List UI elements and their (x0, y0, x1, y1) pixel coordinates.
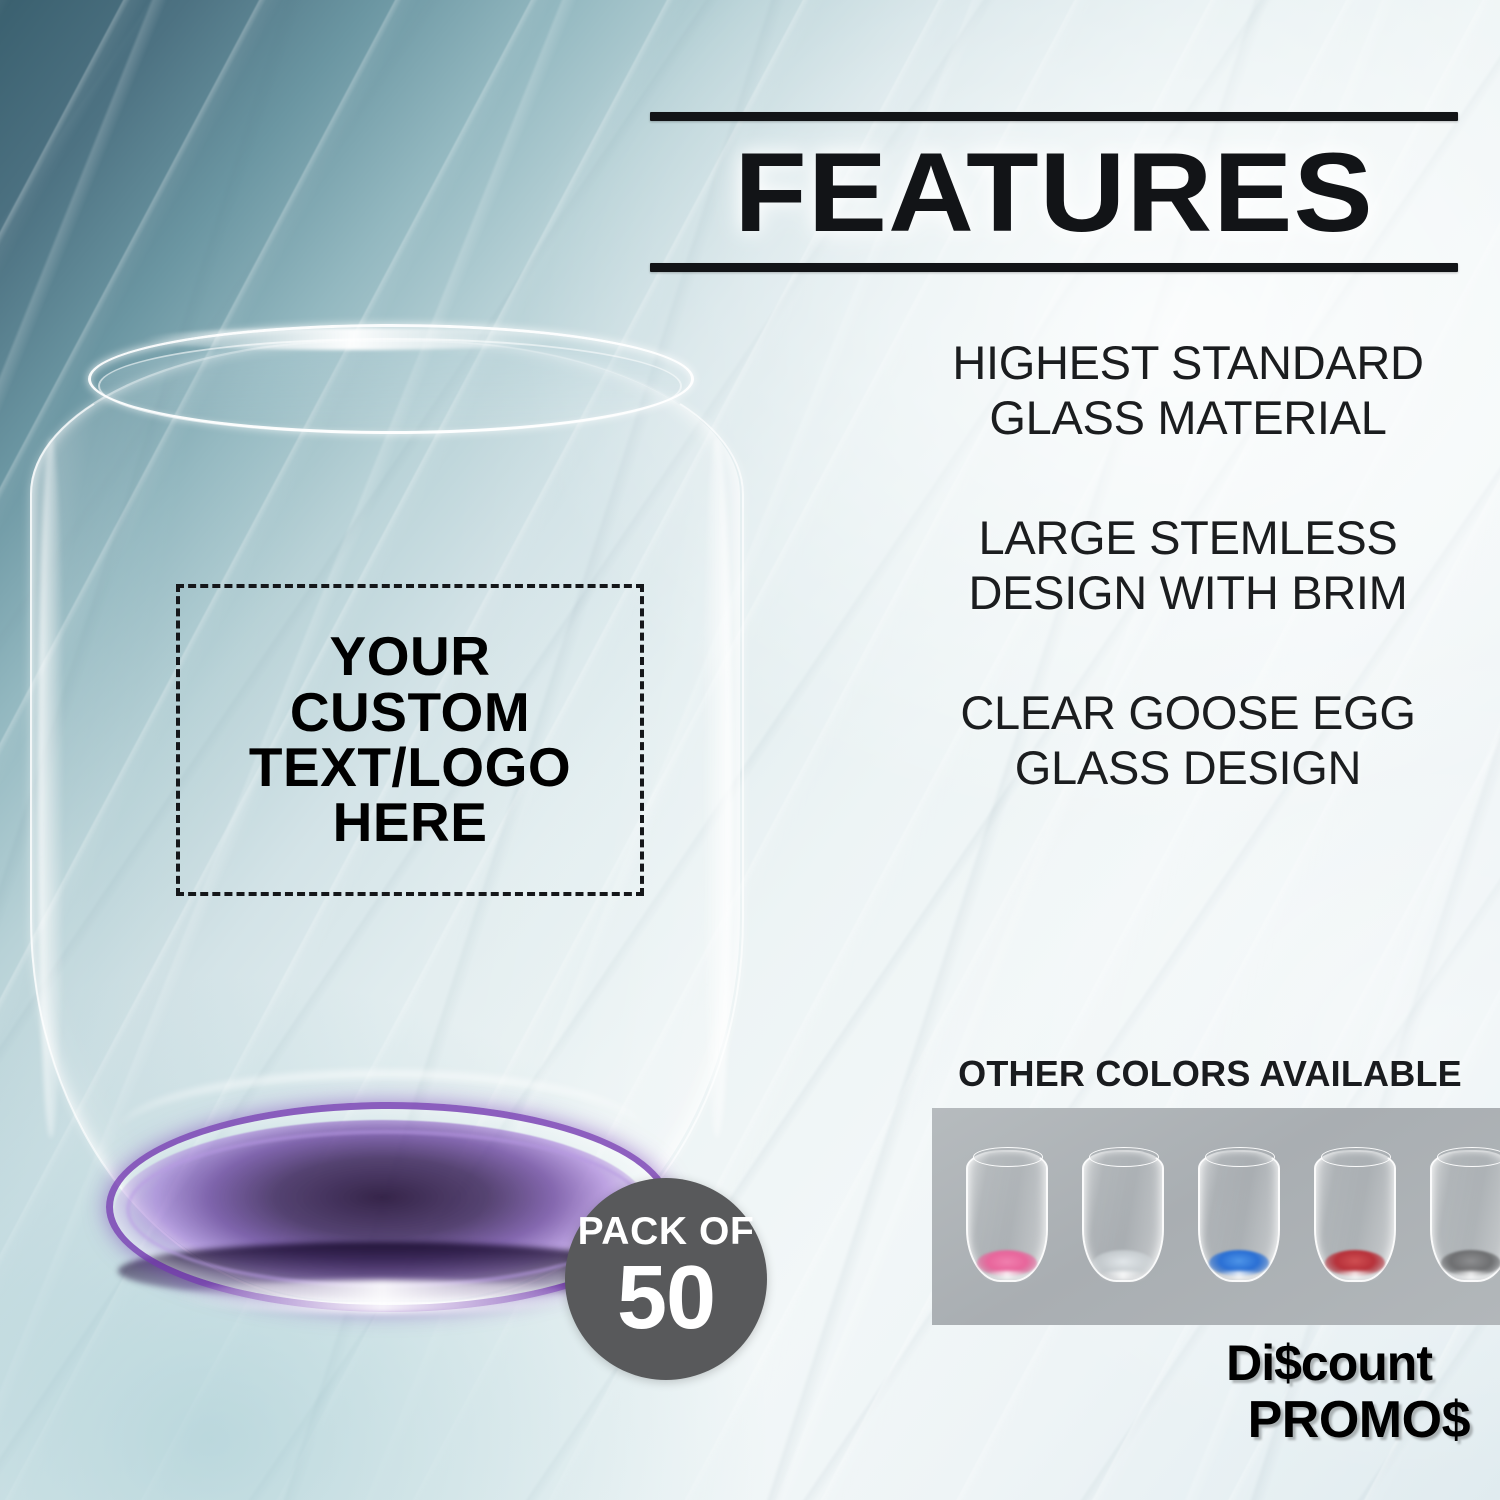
custom-imprint-area: YOUR CUSTOM TEXT/LOGO HERE (176, 584, 644, 896)
pack-badge-label: PACK OF (578, 1212, 755, 1251)
pack-quantity-badge: PACK OF 50 (565, 1178, 767, 1380)
pack-badge-quantity: 50 (617, 1253, 715, 1343)
imprint-line-4: HERE (333, 796, 488, 849)
feature-2-line-1: LARGE STEMLESS (888, 511, 1488, 566)
color-swatch-strip (932, 1108, 1500, 1325)
swatch-rim (1089, 1147, 1159, 1167)
imprint-line-1: YOUR (330, 630, 491, 683)
color-swatch-smoke[interactable] (1430, 1150, 1500, 1282)
feature-3-line-2: GLASS DESIGN (888, 741, 1488, 796)
color-swatch-pink[interactable] (966, 1150, 1048, 1282)
swatch-rim (1321, 1147, 1391, 1167)
swatch-base-shine (1098, 1271, 1148, 1280)
swatch-rim (1205, 1147, 1275, 1167)
color-swatch-blue[interactable] (1198, 1150, 1280, 1282)
feature-item-1: HIGHEST STANDARD GLASS MATERIAL (888, 336, 1488, 445)
product-feature-graphic: YOUR CUSTOM TEXT/LOGO HERE PACK OF 50 FE… (0, 0, 1500, 1500)
swatch-base-shine (1446, 1271, 1496, 1280)
brand-logo: Di$count PROMO$ (1150, 1338, 1470, 1446)
imprint-line-2: CUSTOM (290, 686, 530, 739)
feature-list: HIGHEST STANDARD GLASS MATERIAL LARGE ST… (888, 336, 1488, 795)
swatch-base-shine (1214, 1271, 1264, 1280)
header-rule-bottom (650, 263, 1458, 272)
header-rule-top (650, 112, 1458, 121)
features-header: FEATURES (650, 112, 1458, 272)
feature-1-line-2: GLASS MATERIAL (888, 391, 1488, 446)
swatch-rim (973, 1147, 1043, 1167)
swatch-base-shine (1330, 1271, 1380, 1280)
color-swatch-clear[interactable] (1082, 1150, 1164, 1282)
feature-2-line-2: DESIGN WITH BRIM (888, 566, 1488, 621)
color-swatch-red[interactable] (1314, 1150, 1396, 1282)
page-title: FEATURES (626, 121, 1482, 263)
feature-1-line-1: HIGHEST STANDARD (888, 336, 1488, 391)
feature-3-line-1: CLEAR GOOSE EGG (888, 686, 1488, 741)
brand-logo-line-1: Di$count (1150, 1338, 1432, 1388)
feature-item-2: LARGE STEMLESS DESIGN WITH BRIM (888, 511, 1488, 620)
feature-item-3: CLEAR GOOSE EGG GLASS DESIGN (888, 686, 1488, 795)
glass-rim-highlight (142, 328, 562, 350)
swatch-rim (1437, 1147, 1500, 1167)
swatch-base-shine (982, 1271, 1032, 1280)
other-colors-label: OTHER COLORS AVAILABLE (932, 1053, 1488, 1095)
imprint-line-3: TEXT/LOGO (249, 741, 571, 794)
glass-base-highlight (172, 1280, 592, 1314)
brand-logo-line-2: PROMO$ (1150, 1394, 1470, 1446)
